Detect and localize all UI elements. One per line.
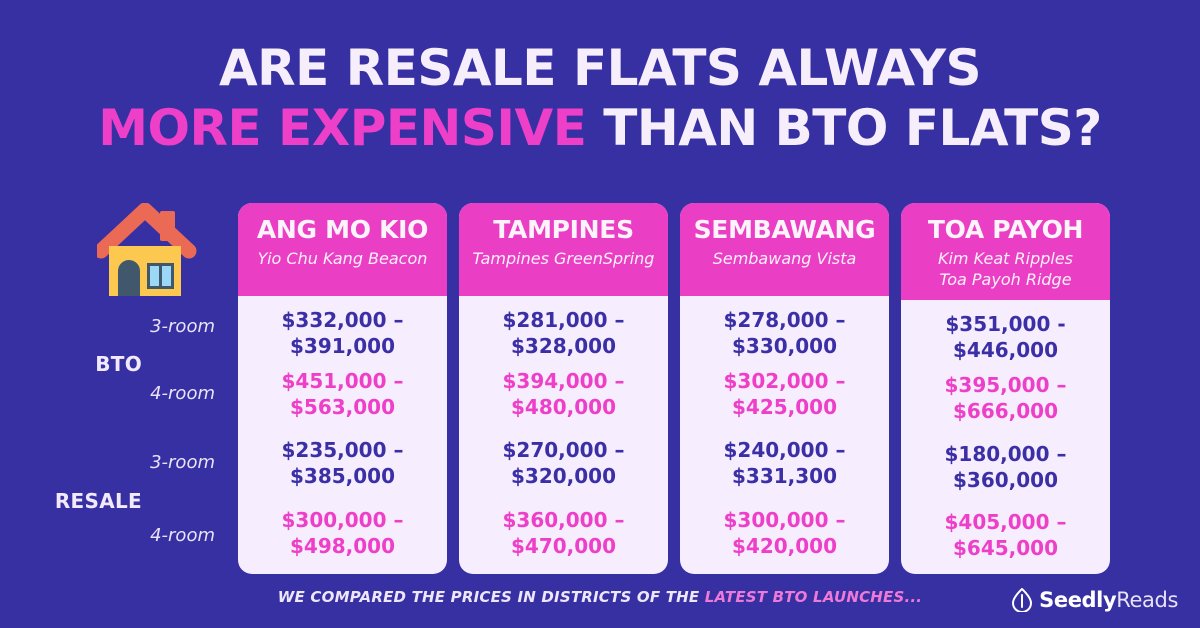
card-body: $278,000 – $330,000 $302,000 – $425,000 … bbox=[680, 296, 889, 574]
town-card-ang-mo-kio: ANG MO KIO Yio Chu Kang Beacon $332,000 … bbox=[238, 203, 447, 574]
seedly-leaf-icon bbox=[1011, 588, 1033, 612]
value-line-2: $425,000 bbox=[680, 394, 889, 420]
value-line-2: $666,000 bbox=[901, 398, 1110, 424]
cell-resale-3room: $235,000 – $385,000 bbox=[238, 428, 447, 498]
value-line-2: $360,000 bbox=[901, 467, 1110, 493]
footer: WE COMPARED THE PRICES IN DISTRICTS OF T… bbox=[0, 588, 1200, 628]
project-name: Yio Chu Kang Beacon bbox=[244, 248, 441, 269]
room-label-resale-4room: 4-room bbox=[150, 525, 215, 546]
cell-resale-4room: $360,000 – $470,000 bbox=[459, 498, 668, 574]
cell-resale-4room: $300,000 – $420,000 bbox=[680, 498, 889, 574]
comparison-table: BTO RESALE 3-room 4-room 3-room 4-room A… bbox=[0, 203, 1200, 574]
town-card-tampines: TAMPINES Tampines GreenSpring $281,000 –… bbox=[459, 203, 668, 574]
value-line-1: $300,000 – bbox=[680, 507, 889, 533]
value-line-1: $300,000 – bbox=[238, 507, 447, 533]
cell-resale-4room: $405,000 – $645,000 bbox=[901, 502, 1110, 574]
logo-wordmark: SeedlyReads bbox=[1039, 588, 1178, 612]
cell-resale-3room: $240,000 – $331,300 bbox=[680, 428, 889, 498]
title-line-1: ARE RESALE FLATS ALWAYS bbox=[0, 38, 1200, 98]
value-line-1: $351,000 - bbox=[901, 311, 1110, 337]
value-line-1: $405,000 – bbox=[901, 509, 1110, 535]
logo-seedly: Seedly bbox=[1039, 588, 1116, 612]
card-body: $351,000 - $446,000 $395,000 – $666,000 … bbox=[901, 300, 1110, 574]
town-name: SEMBAWANG bbox=[686, 215, 883, 245]
value-line-2: $420,000 bbox=[680, 533, 889, 559]
value-line-2: $645,000 bbox=[901, 535, 1110, 561]
cell-bto-3room: $332,000 – $391,000 bbox=[238, 296, 447, 360]
value-line-2: $480,000 bbox=[459, 394, 668, 420]
town-name: TAMPINES bbox=[465, 215, 662, 245]
row-group-label-bto: BTO bbox=[95, 352, 142, 376]
value-line-1: $394,000 – bbox=[459, 368, 668, 394]
value-line-2: $320,000 bbox=[459, 463, 668, 489]
row-label-gutter: BTO RESALE 3-room 4-room 3-room 4-room bbox=[0, 203, 230, 574]
cell-bto-4room: $302,000 – $425,000 bbox=[680, 360, 889, 428]
cell-resale-3room: $270,000 – $320,000 bbox=[459, 428, 668, 498]
row-group-label-resale: RESALE bbox=[55, 489, 142, 513]
cell-bto-4room: $394,000 – $480,000 bbox=[459, 360, 668, 428]
value-line-2: $330,000 bbox=[680, 333, 889, 359]
value-line-1: $281,000 – bbox=[459, 307, 668, 333]
project-name: Tampines GreenSpring bbox=[465, 248, 662, 269]
card-header: SEMBAWANG Sembawang Vista bbox=[680, 203, 889, 296]
cell-resale-4room: $300,000 – $498,000 bbox=[238, 498, 447, 574]
card-header: TOA PAYOH Kim Keat Ripples Toa Payoh Rid… bbox=[901, 203, 1110, 300]
value-line-1: $240,000 – bbox=[680, 437, 889, 463]
town-card-sembawang: SEMBAWANG Sembawang Vista $278,000 – $33… bbox=[680, 203, 889, 574]
value-line-1: $302,000 – bbox=[680, 368, 889, 394]
cell-bto-3room: $281,000 – $328,000 bbox=[459, 296, 668, 360]
room-label-resale-3room: 3-room bbox=[150, 452, 215, 473]
town-name: TOA PAYOH bbox=[907, 215, 1104, 245]
logo-reads: Reads bbox=[1116, 588, 1178, 612]
title-line-2: MORE EXPENSIVE THAN BTO FLATS? bbox=[0, 98, 1200, 158]
project-name-secondary: Toa Payoh Ridge bbox=[907, 269, 1104, 290]
value-line-2: $470,000 bbox=[459, 533, 668, 559]
value-line-2: $391,000 bbox=[238, 333, 447, 359]
value-line-1: $235,000 – bbox=[238, 437, 447, 463]
cell-resale-3room: $180,000 – $360,000 bbox=[901, 432, 1110, 502]
value-line-1: $451,000 – bbox=[238, 368, 447, 394]
value-line-2: $331,300 bbox=[680, 463, 889, 489]
value-line-1: $180,000 – bbox=[901, 441, 1110, 467]
value-line-2: $328,000 bbox=[459, 333, 668, 359]
house-icon bbox=[97, 203, 197, 299]
cell-bto-3room: $351,000 - $446,000 bbox=[901, 300, 1110, 364]
town-cards: ANG MO KIO Yio Chu Kang Beacon $332,000 … bbox=[238, 203, 1110, 574]
footer-caption-accent: LATEST BTO LAUNCHES... bbox=[705, 588, 922, 606]
value-line-1: $360,000 – bbox=[459, 507, 668, 533]
project-name: Sembawang Vista bbox=[686, 248, 883, 269]
value-line-1: $395,000 – bbox=[901, 372, 1110, 398]
value-line-1: $332,000 – bbox=[238, 307, 447, 333]
card-body: $281,000 – $328,000 $394,000 – $480,000 … bbox=[459, 296, 668, 574]
card-header: ANG MO KIO Yio Chu Kang Beacon bbox=[238, 203, 447, 296]
value-line-1: $270,000 – bbox=[459, 437, 668, 463]
page-title: ARE RESALE FLATS ALWAYS MORE EXPENSIVE T… bbox=[0, 38, 1200, 158]
cell-bto-3room: $278,000 – $330,000 bbox=[680, 296, 889, 360]
seedly-reads-logo: SeedlyReads bbox=[1011, 588, 1178, 612]
town-card-toa-payoh: TOA PAYOH Kim Keat Ripples Toa Payoh Rid… bbox=[901, 203, 1110, 574]
card-body: $332,000 – $391,000 $451,000 – $563,000 … bbox=[238, 296, 447, 574]
town-name: ANG MO KIO bbox=[244, 215, 441, 245]
value-line-1: $278,000 – bbox=[680, 307, 889, 333]
project-name: Kim Keat Ripples bbox=[907, 248, 1104, 269]
title-accent-text: MORE EXPENSIVE bbox=[98, 99, 586, 157]
value-line-2: $498,000 bbox=[238, 533, 447, 559]
cell-bto-4room: $395,000 – $666,000 bbox=[901, 364, 1110, 432]
value-line-2: $385,000 bbox=[238, 463, 447, 489]
title-rest-text: THAN BTO FLATS? bbox=[586, 99, 1101, 157]
footer-caption-plain: WE COMPARED THE PRICES IN DISTRICTS OF T… bbox=[278, 588, 705, 606]
room-label-bto-3room: 3-room bbox=[150, 316, 215, 337]
value-line-2: $446,000 bbox=[901, 337, 1110, 363]
cell-bto-4room: $451,000 – $563,000 bbox=[238, 360, 447, 428]
value-line-2: $563,000 bbox=[238, 394, 447, 420]
card-header: TAMPINES Tampines GreenSpring bbox=[459, 203, 668, 296]
room-label-bto-4room: 4-room bbox=[150, 383, 215, 404]
